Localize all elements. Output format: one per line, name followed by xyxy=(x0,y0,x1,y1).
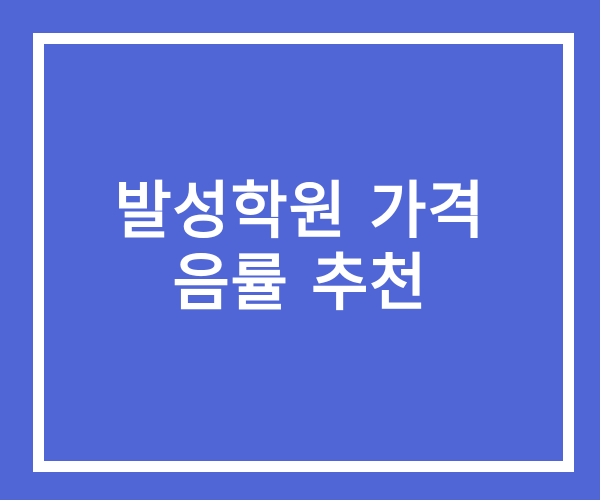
title-block: 발성학원 가격 음률 추천 xyxy=(0,0,600,500)
title-card: 발성학원 가격 음률 추천 xyxy=(0,0,600,500)
title-line-2: 음률 추천 xyxy=(173,251,428,315)
title-line-1: 발성학원 가격 xyxy=(115,179,486,243)
